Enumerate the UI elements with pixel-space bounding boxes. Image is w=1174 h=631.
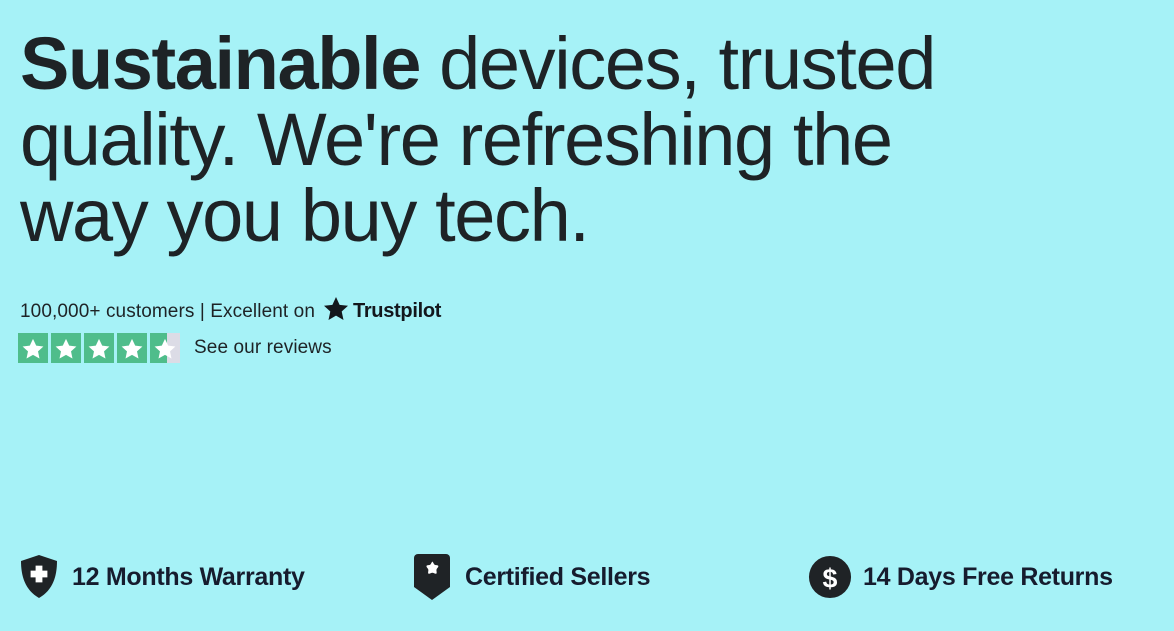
shield-cross-icon (17, 552, 61, 602)
trustpilot-star-icon (324, 297, 348, 324)
badge-warranty: 12 Months Warranty (17, 548, 305, 606)
star-icon (150, 333, 180, 363)
star-icon (84, 333, 114, 363)
star-icon (18, 333, 48, 363)
trustpilot-rating-row[interactable]: See our reviews (18, 333, 332, 363)
headline-lead-word: Sustainable (20, 22, 420, 105)
trustpilot-logo[interactable]: Trustpilot (324, 299, 441, 324)
star-tile (117, 333, 147, 363)
customers-count-text: 100,000+ customers | Excellent on (20, 301, 315, 323)
page-title: Sustainable devices, trusted quality. We… (20, 26, 1030, 254)
badge-certified-sellers: Certified Sellers (410, 548, 650, 606)
star-tile (51, 333, 81, 363)
star-rating[interactable] (18, 333, 180, 363)
trustpilot-headline-row: 100,000+ customers | Excellent on Trustp… (20, 299, 441, 324)
dollar-circle-icon: $ (808, 552, 852, 602)
star-tile-partial (150, 333, 180, 363)
badge-warranty-label: 12 Months Warranty (72, 563, 305, 592)
svg-text:$: $ (823, 564, 838, 594)
hero-section: Sustainable devices, trusted quality. We… (0, 0, 1174, 631)
trust-badges-row: 12 Months Warranty Certified Sellers $ 1… (0, 548, 1174, 610)
star-icon (117, 333, 147, 363)
ribbon-star-icon (410, 552, 454, 602)
star-icon (51, 333, 81, 363)
badge-free-returns-label: 14 Days Free Returns (863, 563, 1113, 592)
star-tile (84, 333, 114, 363)
trustpilot-wordmark: Trustpilot (353, 300, 441, 323)
badge-free-returns: $ 14 Days Free Returns (808, 548, 1113, 606)
badge-certified-sellers-label: Certified Sellers (465, 563, 650, 592)
star-tile (18, 333, 48, 363)
see-reviews-link[interactable]: See our reviews (194, 337, 332, 359)
